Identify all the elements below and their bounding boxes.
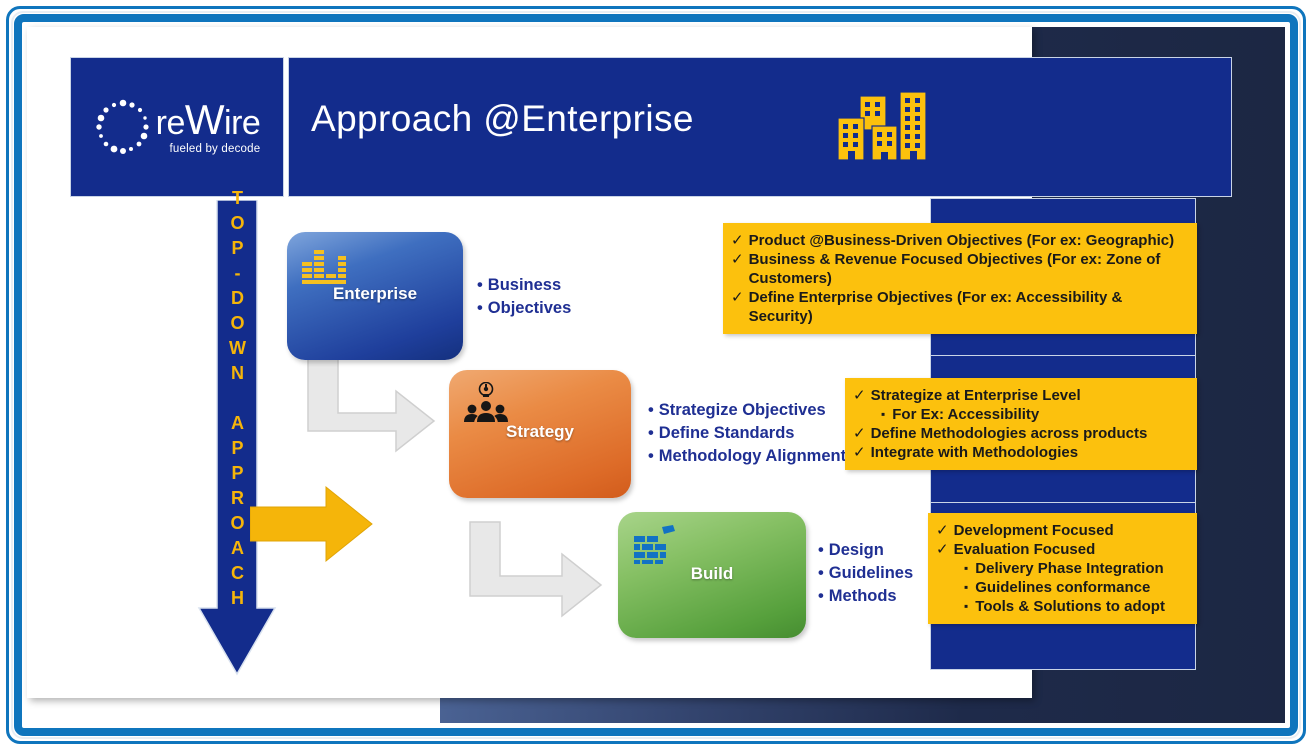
slide-canvas: reWire fueled by decode Approach @Enterp…	[0, 0, 1312, 750]
frame-border-outer	[6, 6, 1306, 744]
